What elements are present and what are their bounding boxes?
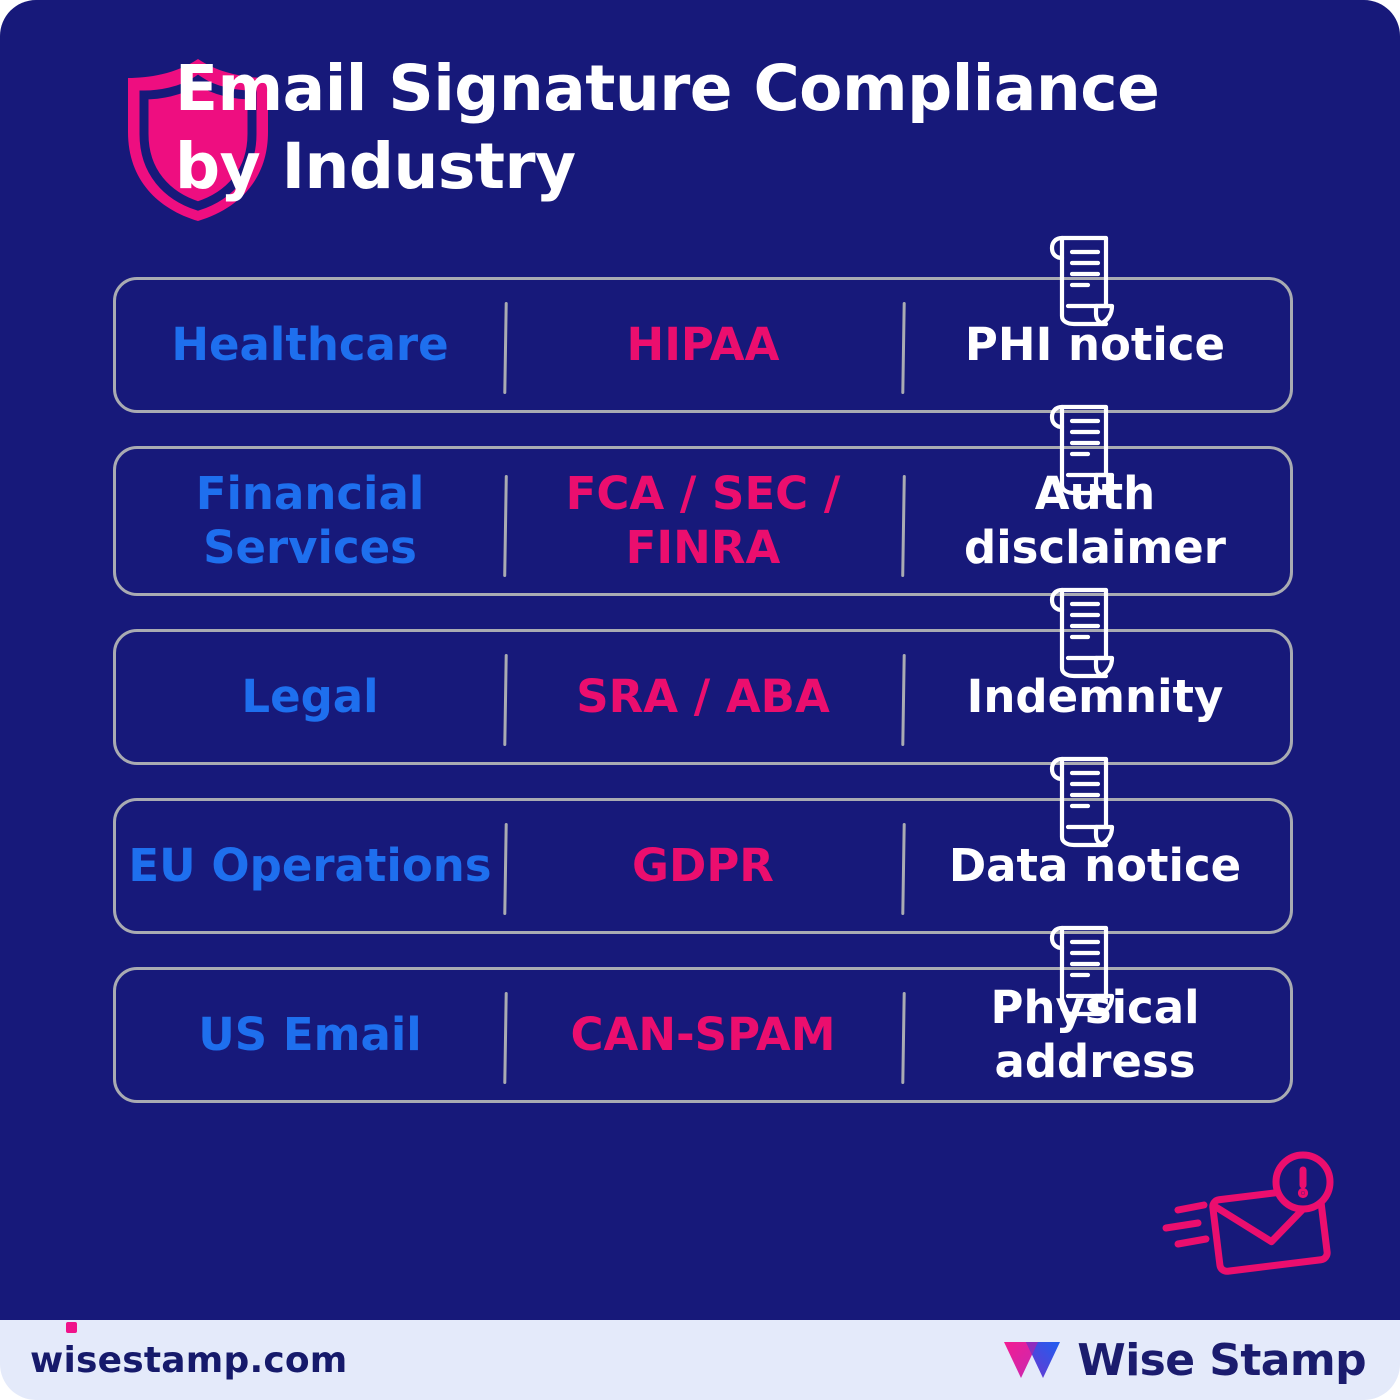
envelope-alert-icon (1148, 1150, 1344, 1295)
infographic-canvas: Email Signature Compliance by Industry H… (0, 0, 1400, 1400)
cell-regulation-line-2: FINRA (566, 521, 841, 575)
table-row: EU Operations GDPR Data notice (113, 798, 1293, 934)
cell-industry: Legal (116, 632, 504, 762)
cell-regulation: CAN-SPAM (504, 970, 902, 1100)
compliance-table: Healthcare HIPAA PHI notice (113, 277, 1293, 1136)
cell-industry-line-1: Financial (196, 467, 425, 521)
scroll-document-icon (1044, 918, 1122, 1018)
title-line-1: Email Signature Compliance (175, 50, 1290, 128)
infographic-card: Email Signature Compliance by Industry H… (0, 0, 1400, 1320)
wisestamp-logo[interactable]: Wise Stamp (1001, 1335, 1366, 1386)
cell-regulation-line-1: FCA / SEC / (566, 467, 841, 521)
table-row: Legal SRA / ABA Indemnity (113, 629, 1293, 765)
cell-regulation: FCA / SEC / FINRA (504, 449, 902, 593)
cell-industry: EU Operations (116, 801, 504, 931)
wisestamp-brand-name: Wise Stamp (1077, 1335, 1366, 1386)
cell-regulation: HIPAA (504, 280, 902, 410)
wisestamp-w-logo-icon (1001, 1338, 1063, 1382)
table-row: Healthcare HIPAA PHI notice (113, 277, 1293, 413)
wisestamp-logo-dot (66, 1322, 77, 1333)
footer: wisestamp.com (0, 1320, 1400, 1400)
cell-regulation: GDPR (504, 801, 902, 931)
table-row: US Email CAN-SPAM Physical address (113, 967, 1293, 1103)
cell-industry: Financial Services (116, 449, 504, 593)
table-row: Financial Services FCA / SEC / FINRA Aut… (113, 446, 1293, 596)
cell-industry: US Email (116, 970, 504, 1100)
footer-url[interactable]: wisestamp.com (30, 1340, 348, 1381)
cell-industry-line-2: Services (196, 521, 425, 575)
cell-industry: Healthcare (116, 280, 504, 410)
title-line-2: by Industry (175, 128, 1290, 206)
scroll-document-icon (1044, 580, 1122, 680)
scroll-document-icon (1044, 228, 1122, 328)
scroll-document-icon (1044, 397, 1122, 497)
shield-icon (0, 50, 175, 230)
cell-regulation: SRA / ABA (504, 632, 902, 762)
page-title: Email Signature Compliance by Industry (175, 50, 1400, 206)
header: Email Signature Compliance by Industry (0, 50, 1400, 235)
scroll-document-icon (1044, 749, 1122, 849)
